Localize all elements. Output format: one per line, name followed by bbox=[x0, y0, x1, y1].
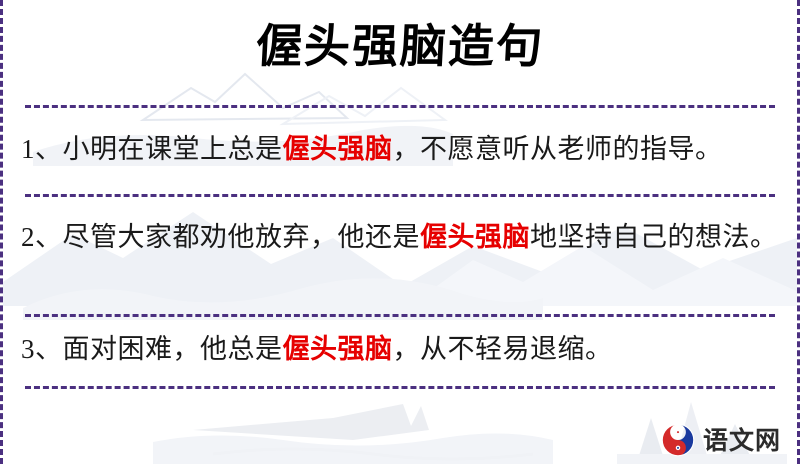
watermark-boat-and-water bbox=[153, 396, 553, 464]
sentence-item: 2、尽管大家都劝他放弃，他还是偓头强脑地坚持自己的想法。 bbox=[21, 216, 779, 259]
sentence-index: 2、 bbox=[21, 222, 63, 252]
sentence-idiom-highlight: 偓头强脑 bbox=[420, 222, 530, 252]
watermark-hills-lower bbox=[23, 250, 543, 320]
sentence-text-after: 地坚持自己的想法。 bbox=[530, 222, 778, 252]
page-title: 偓头强脑造句 bbox=[254, 18, 545, 76]
divider-after-sentence-3 bbox=[25, 386, 775, 389]
divider-top bbox=[25, 105, 775, 108]
sentence-index: 1、 bbox=[21, 134, 63, 164]
sentence-text-after: ，从不轻易退缩。 bbox=[393, 334, 613, 364]
sentence-text-after: ，不愿意听从老师的指导。 bbox=[393, 134, 723, 164]
page-title-wrapper: 偓头强脑造句 bbox=[3, 18, 797, 76]
sentence-text-before: 面对困难，他总是 bbox=[63, 334, 283, 364]
site-logo[interactable]: 语文网 bbox=[660, 422, 781, 458]
sentence-item: 1、小明在课堂上总是偓头强脑，不愿意听从老师的指导。 bbox=[21, 128, 779, 171]
sentence-text-before: 小明在课堂上总是 bbox=[63, 134, 283, 164]
site-logo-text: 语文网 bbox=[703, 428, 781, 453]
sentence-index: 3、 bbox=[21, 334, 63, 364]
divider-after-sentence-1 bbox=[25, 194, 775, 197]
divider-after-sentence-2 bbox=[25, 314, 775, 317]
sentence-idiom-highlight: 偓头强脑 bbox=[283, 334, 393, 364]
yin-yang-fish-icon bbox=[660, 422, 696, 458]
sentence-item: 3、面对困难，他总是偓头强脑，从不轻易退缩。 bbox=[21, 328, 779, 371]
sentence-text-before: 尽管大家都劝他放弃，他还是 bbox=[63, 222, 421, 252]
page-root: 偓头强脑造句 1、小明在课堂上总是偓头强脑，不愿意听从老师的指导。 2、尽管大家… bbox=[0, 0, 800, 464]
sentence-idiom-highlight: 偓头强脑 bbox=[283, 134, 393, 164]
